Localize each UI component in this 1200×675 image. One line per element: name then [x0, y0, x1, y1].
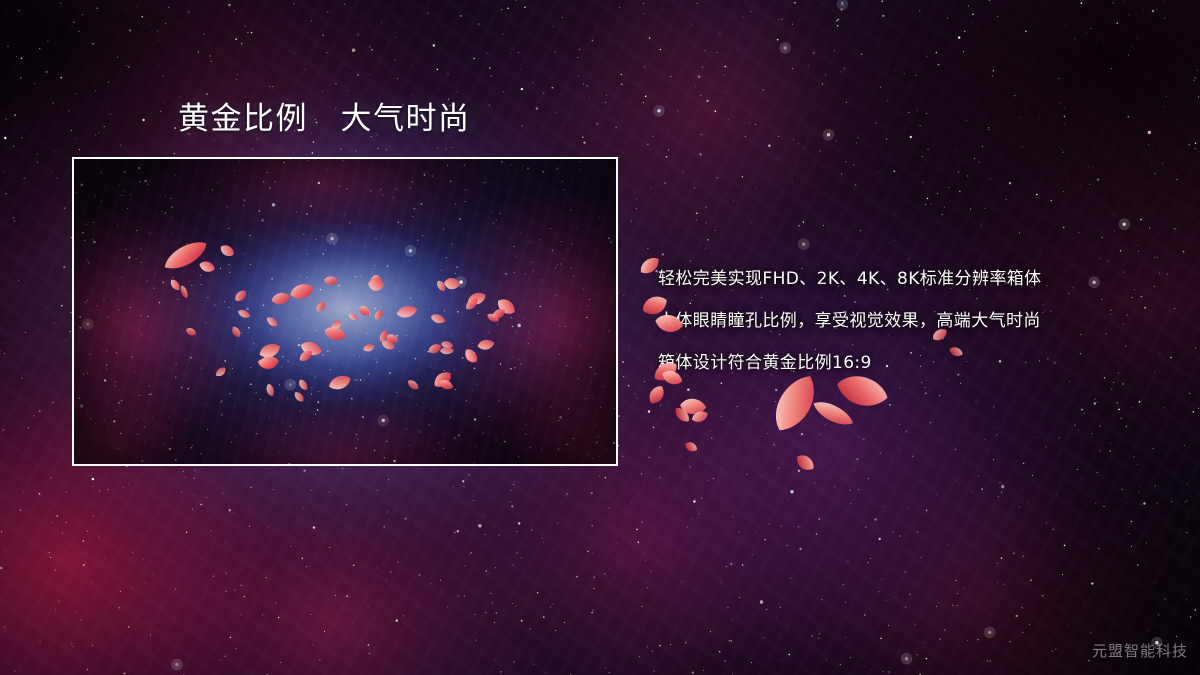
description-line-3: 箱体设计符合黄金比例16:9 [658, 342, 1178, 384]
description-line-2: 人体眼睛瞳孔比例，享受视觉效果，高端大气时尚 [658, 300, 1178, 342]
description-text-block: 轻松完美实现FHD、2K、4K、8K标准分辨率箱体 人体眼睛瞳孔比例，享受视觉效… [658, 258, 1178, 384]
slide-title: 黄金比例 大气时尚 [178, 101, 471, 137]
presentation-slide: 黄金比例 大气时尚 [0, 0, 1200, 675]
company-watermark: 元盟智能科技 [1092, 640, 1188, 661]
framed-image-panel [72, 157, 618, 466]
description-line-1: 轻松完美实现FHD、2K、4K、8K标准分辨率箱体 [658, 258, 1178, 300]
panel-vignette [74, 159, 616, 464]
